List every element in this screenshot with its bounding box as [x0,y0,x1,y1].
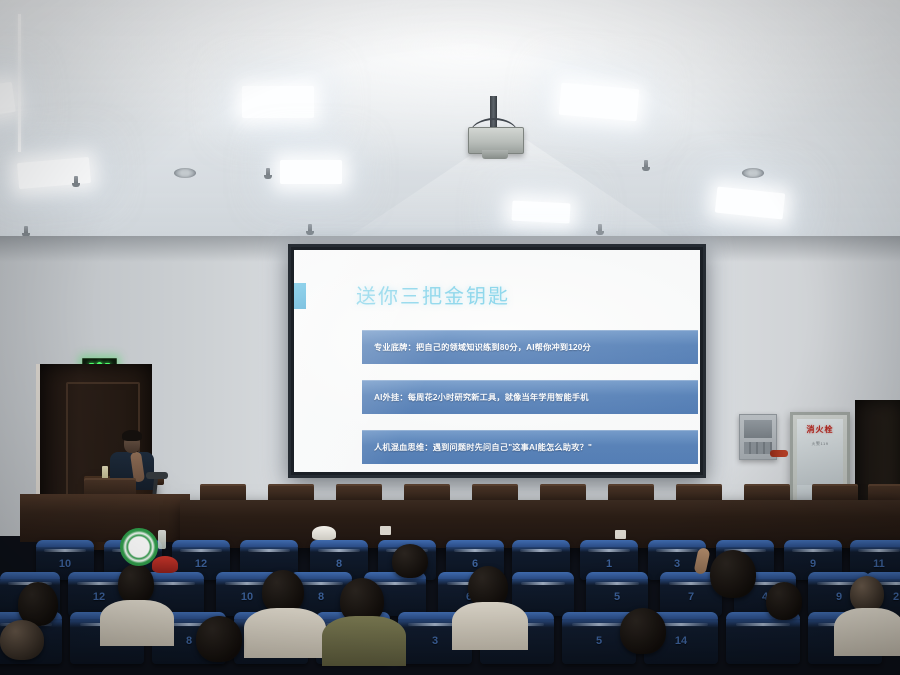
audience-head [850,576,884,612]
projector-lens [482,150,508,159]
fire-cabinet-label: 消火栓 [807,424,834,435]
ceiling-panel-light [512,200,571,223]
lecture-hall-scene: 送你三把金钥匙 专业底牌：把自己的领域知识练到80分，AI帮你冲到120分 AI… [0,0,900,675]
water-bottle [158,530,166,549]
audience-shoulders [100,600,174,646]
audience-head [710,550,756,598]
audience-seating: 101286137911212108657492835147 [0,520,900,675]
seat-number: 1 [580,558,638,570]
fire-hose-nozzle [770,450,788,457]
slide-title: 送你三把金钥匙 [356,280,510,309]
ceiling-sprinkler-head [266,168,270,177]
bullet-bar: 专业底牌：把自己的领域知识练到80分，AI帮你冲到120分 [362,330,698,364]
ceiling-air-vent [742,168,764,178]
audience-seat[interactable] [726,612,800,664]
projection-screen: 送你三把金钥匙 专业底牌：把自己的领域知识练到80分，AI帮你冲到120分 AI… [288,244,706,478]
bullet-text: AI外挂：每周花2小时研究新工具，就像当年学用智能手机 [362,391,589,403]
ceiling-sprinkler-head [74,176,78,185]
audience-head [766,582,802,620]
audience-head [118,564,154,604]
presenter-hair [122,430,142,441]
audience-head [196,616,242,662]
bullet-text: 专业底牌：把自己的领域知识练到80分，AI帮你冲到120分 [362,341,591,353]
audience-shoulders [452,602,528,650]
fire-cabinet-glass: 消火栓 火警119 [797,419,843,486]
door-light-gap [18,14,21,152]
bullet-bar: 人机混血思维：遇到问题时先问自己"这事AI能怎么助攻？" [362,430,698,464]
ceiling-air-vent [174,168,196,178]
ceiling-panel-light [242,86,314,118]
ceiling-sprinkler-head [308,224,312,233]
bullet-bar: AI外挂：每周花2小时研究新工具，就像当年学用智能手机 [362,380,698,414]
ceiling-panel-light [0,82,16,120]
seat-number: 7 [660,591,722,603]
audience-head [0,620,44,660]
ceiling-sprinkler-head [644,160,648,169]
title-accent-block [294,283,306,309]
ceiling-panel-light [280,160,342,184]
seat-number: 9 [784,558,842,570]
seat-number: 10 [36,558,94,570]
seat-number: 8 [310,558,368,570]
seat-number: 11 [850,558,900,570]
audience-head [620,608,666,654]
ceiling-light-haze [0,0,900,258]
audience-shoulders [322,616,406,666]
seat-number: 5 [586,591,648,603]
ceiling-sprinkler-head [24,226,28,235]
audience-head [392,544,428,578]
audience-shoulders [834,608,900,656]
ceiling [0,0,900,258]
bullet-text: 人机混血思维：遇到问题时先问自己"这事AI能怎么助攻？" [362,441,592,453]
white-cap [312,526,336,540]
microphone-head [146,472,168,479]
fire-cabinet-sublabel: 火警119 [797,441,843,447]
red-cap [152,556,178,573]
ceiling-panel-light [715,187,785,220]
audience-shoulders [244,608,326,658]
seat-number: 12 [172,558,230,570]
presentation-slide: 送你三把金钥匙 专业底牌：把自己的领域知识练到80分，AI帮你冲到120分 AI… [294,250,700,472]
slide-bullet-bars: 专业底牌：把自己的领域知识练到80分，AI帮你冲到120分 AI外挂：每周花2小… [362,330,698,472]
ceiling-sprinkler-head [598,224,602,233]
ceiling-panel-light [559,83,639,122]
